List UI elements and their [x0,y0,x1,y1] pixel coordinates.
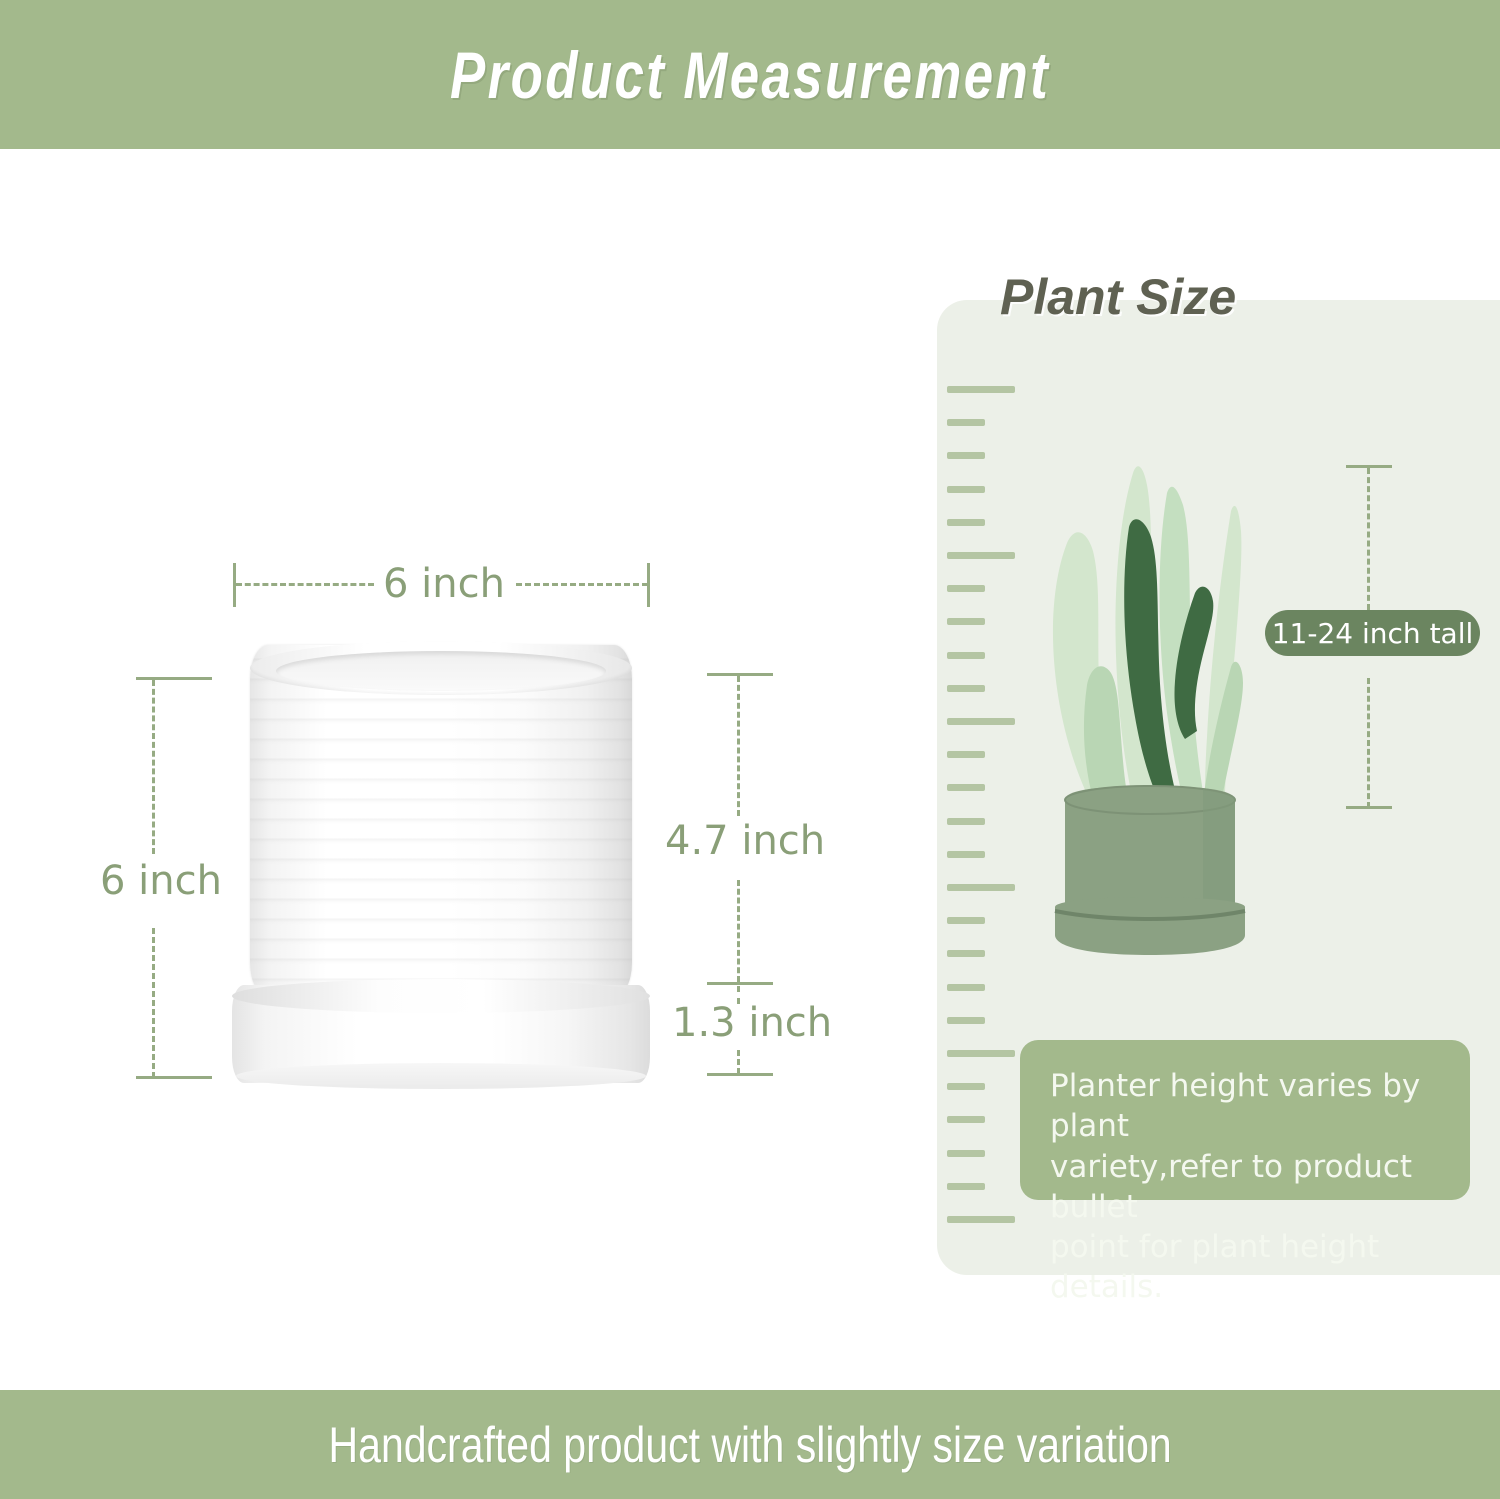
pot-height-dim-line-top [737,676,740,816]
ruler-tick-major [947,718,1015,725]
plant-height-dim-line-bottom [1367,678,1370,808]
pot-height-dim-line-bottom [737,880,740,982]
left-height-dim-line-bottom [152,928,155,1078]
ruler-tick-major [947,1050,1015,1057]
pot-height-dim-label: 4.7 inch [665,818,825,864]
ruler-tick-minor [947,585,985,592]
ruler-tick-minor [947,950,985,957]
pot-height-dim-bottom-cap [707,982,773,985]
width-dim-line-right [516,583,648,586]
ruler-tick-major [947,884,1015,891]
plant-height-dim-line-top [1367,468,1370,610]
pot-height-dim-top-cap [707,673,773,676]
planter-saucer-bottom-edge [236,1063,646,1089]
product-measurement-infographic: Product Measurement 6 inch 6 inch 4.7 in… [0,0,1500,1499]
ruler-tick-minor [947,519,985,526]
planter-saucer-top-edge [232,979,650,1013]
ruler-tick-minor [947,917,985,924]
header-banner: Product Measurement [0,0,1500,149]
ruler-tick-minor [947,652,985,659]
saucer-height-dim-line-bottom [737,1050,740,1074]
vertical-ruler [937,300,1017,1275]
footer-banner: Handcrafted product with slightly size v… [0,1390,1500,1499]
ruler-tick-minor [947,1017,985,1024]
plant-size-title: Plant Size [1000,268,1236,326]
plant-saucer [1055,897,1245,955]
ruler-tick-minor [947,1116,985,1123]
note-line-2: variety,refer to product bullet [1050,1147,1440,1228]
plant-height-badge-label: 11-24 inch tall [1272,617,1474,650]
ruler-tick-minor [947,1183,985,1190]
planter-product-photo [232,645,650,1085]
ruler-tick-minor [947,486,985,493]
ruler-tick-minor [947,851,985,858]
snake-plant-illustration [1025,455,1275,965]
width-dim-line-left [236,583,374,586]
width-dim-right-cap [647,563,650,607]
left-height-dim-bottom-cap [136,1076,212,1079]
planter-body [250,645,632,997]
plant-height-dim-bottom-cap [1346,806,1392,809]
ruler-tick-minor [947,685,985,692]
ruler-tick-minor [947,1150,985,1157]
width-dim-label: 6 inch [383,561,505,607]
ruler-tick-minor [947,618,985,625]
ruler-tick-minor [947,452,985,459]
saucer-height-dim-label: 1.3 inch [672,1000,832,1046]
saucer-height-dim-bottom-cap [707,1073,773,1076]
note-line-3: point for plant height details. [1050,1227,1440,1308]
planter-rim-inner [276,651,606,691]
ruler-tick-minor [947,419,985,426]
plant-height-badge: 11-24 inch tall [1265,610,1480,656]
page-title: Product Measurement [450,37,1050,113]
plant-height-note-box: Planter height varies by plant variety,r… [1020,1040,1470,1200]
ruler-tick-minor [947,784,985,791]
footer-text: Handcrafted product with slightly size v… [328,1416,1171,1474]
planter-ribbed-texture [250,645,632,997]
left-height-dim-label: 6 inch [100,858,222,904]
ruler-tick-major [947,386,1015,393]
ruler-tick-minor [947,818,985,825]
ruler-tick-minor [947,751,985,758]
left-height-dim-line-top [152,680,155,854]
ruler-tick-major [947,1216,1015,1223]
note-line-1: Planter height varies by plant [1050,1066,1440,1147]
left-height-dim-top-cap [136,677,212,680]
ruler-tick-minor [947,984,985,991]
ruler-tick-minor [947,1083,985,1090]
ruler-tick-major [947,552,1015,559]
